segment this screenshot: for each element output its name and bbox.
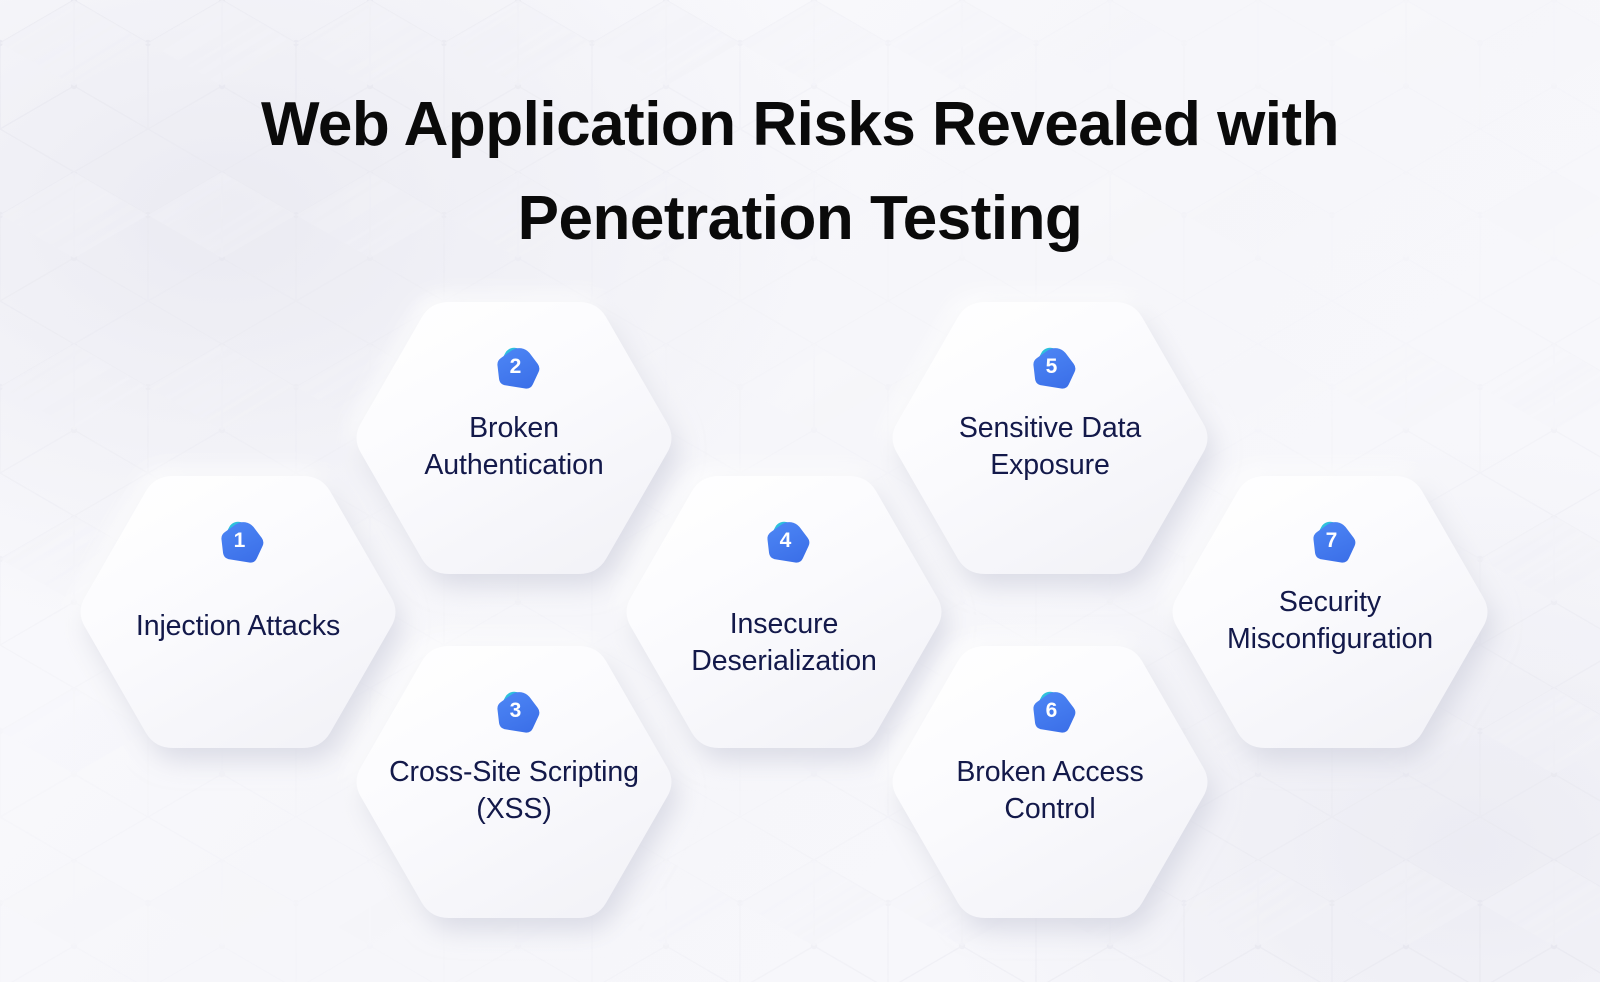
risk-number-4: 4 <box>755 510 813 568</box>
risk-number-3: 3 <box>485 680 543 738</box>
risk-hexagon-5[interactable]: 5Sensitive Data Exposure <box>888 296 1212 588</box>
risk-number-badge-5: 5 <box>1021 336 1079 394</box>
title-line-1: Web Application Risks Revealed with <box>0 78 1600 172</box>
risk-number-badge-2: 2 <box>485 336 543 394</box>
risk-number-badge-4: 4 <box>755 510 813 568</box>
risk-number-badge-7: 7 <box>1301 510 1359 568</box>
page-title: Web Application Risks Revealed with Pene… <box>0 78 1600 266</box>
title-line-2: Penetration Testing <box>0 172 1600 266</box>
risk-label-5: Sensitive Data Exposure <box>921 410 1179 485</box>
risk-label-1: Injection Attacks <box>109 608 367 645</box>
risk-label-6: Broken Access Control <box>916 754 1184 829</box>
risk-number-7: 7 <box>1301 510 1359 568</box>
risk-number-1: 1 <box>209 510 267 568</box>
infographic-canvas: Web Application Risks Revealed with Pene… <box>0 0 1600 982</box>
risk-number-badge-1: 1 <box>209 510 267 568</box>
risk-label-7: Security Misconfiguration <box>1187 584 1473 659</box>
risk-number-badge-3: 3 <box>485 680 543 738</box>
risk-label-3: Cross-Site Scripting (XSS) <box>364 754 664 829</box>
risk-number-2: 2 <box>485 336 543 394</box>
risk-number-6: 6 <box>1021 680 1079 738</box>
risk-hexagon-6[interactable]: 6Broken Access Control <box>888 640 1212 932</box>
risk-number-5: 5 <box>1021 336 1079 394</box>
risk-label-4: Insecure Deserialization <box>655 606 913 681</box>
risk-number-badge-6: 6 <box>1021 680 1079 738</box>
risk-hexagon-7[interactable]: 7Security Misconfiguration <box>1168 470 1492 762</box>
risk-label-2: Broken Authentication <box>385 410 643 485</box>
